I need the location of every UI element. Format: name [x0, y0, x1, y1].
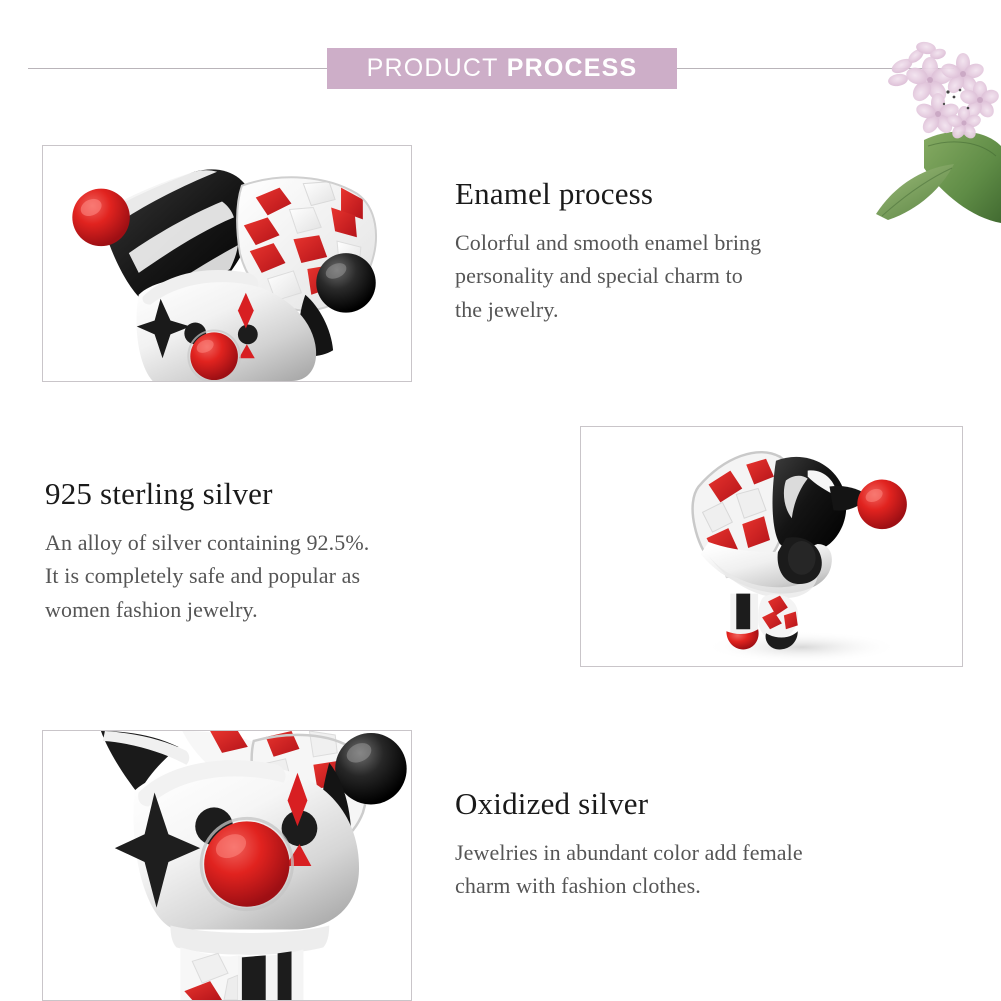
banner-title: PRODUCT PROCESS — [367, 56, 638, 81]
header-rule-right — [677, 68, 954, 69]
product-photo-enamel-process[interactable] — [42, 145, 412, 382]
section-text-enamel-process: Enamel process Colorful and smooth ename… — [455, 176, 905, 326]
section-title-enamel-process: Enamel process — [455, 176, 905, 212]
banner-word-product: PRODUCT — [367, 54, 499, 82]
jester-charm-closeup-photo — [43, 731, 411, 1000]
banner-word-process: PROCESS — [507, 54, 638, 82]
section-body-oxidized-silver: Jewelries in abundant color add female c… — [455, 836, 945, 903]
section-title-oxidized-silver: Oxidized silver — [455, 786, 945, 822]
product-photo-sterling-silver[interactable] — [580, 426, 963, 667]
section-text-oxidized-silver: Oxidized silver Jewelries in abundant co… — [455, 786, 945, 903]
product-photo-oxidized-silver[interactable] — [42, 730, 412, 1001]
section-body-sterling-silver: An alloy of silver containing 92.5%. It … — [45, 526, 515, 626]
jester-charm-angled-photo — [581, 427, 962, 666]
header-rule-left — [28, 68, 328, 69]
jester-charm-front-photo — [43, 146, 411, 381]
section-text-sterling-silver: 925 sterling silver An alloy of silver c… — [45, 476, 515, 626]
section-banner: PRODUCT PROCESS — [327, 48, 677, 89]
section-title-sterling-silver: 925 sterling silver — [45, 476, 515, 512]
section-body-enamel-process: Colorful and smooth enamel bring persona… — [455, 226, 905, 326]
product-process-page: PRODUCT PROCESS — [0, 0, 1001, 1001]
